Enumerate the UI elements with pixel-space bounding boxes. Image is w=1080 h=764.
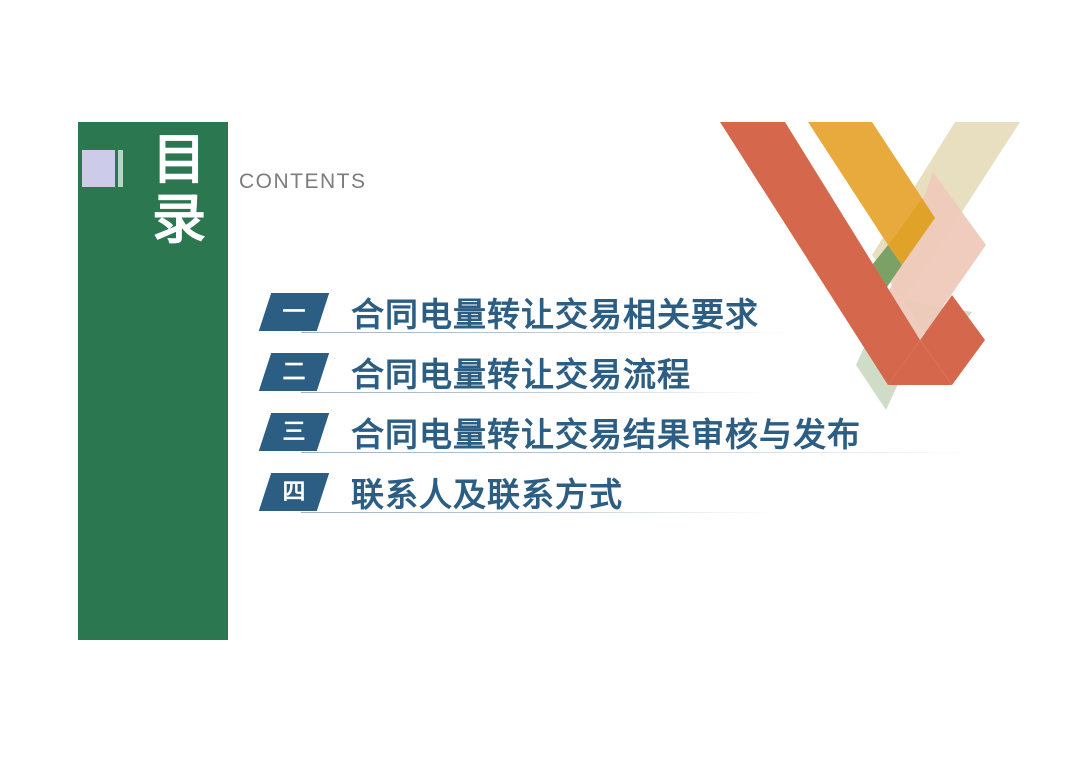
table-of-contents: 一 合同电量转让交易相关要求 二 合同电量转让交易流程 三 合同电量转让交易结果… (265, 288, 1025, 528)
toc-label-1: 合同电量转让交易相关要求 (351, 288, 759, 336)
toc-item-4[interactable]: 四 联系人及联系方式 (265, 468, 1025, 528)
toc-number-badge-1: 一 (259, 293, 329, 331)
toc-rule-4 (301, 512, 776, 513)
toc-item-1[interactable]: 一 合同电量转让交易相关要求 (265, 288, 1025, 348)
panel-accent-stripe (118, 150, 123, 187)
toc-rule-1 (301, 332, 801, 333)
toc-number-3: 三 (265, 413, 323, 451)
toc-rule-2 (301, 392, 771, 393)
page-title-char-1: 目 (140, 130, 220, 190)
contents-slide: 目 录 CONTENTS 一 合同电量转让交易相关要求 二 合同电量转让交易流程… (0, 0, 1080, 764)
gold-chevron-shape (808, 122, 935, 315)
toc-item-3[interactable]: 三 合同电量转让交易结果审核与发布 (265, 408, 1025, 468)
toc-label-3: 合同电量转让交易结果审核与发布 (351, 408, 861, 456)
toc-number-2: 二 (265, 353, 323, 391)
toc-label-2: 合同电量转让交易流程 (351, 348, 691, 396)
toc-label-4: 联系人及联系方式 (351, 468, 623, 516)
contents-label: CONTENTS (239, 170, 367, 194)
toc-number-4: 四 (265, 473, 323, 511)
toc-number-badge-3: 三 (259, 413, 329, 451)
toc-number-1: 一 (265, 293, 323, 331)
page-title-char-2: 录 (140, 190, 220, 250)
page-title: 目 录 (140, 130, 220, 250)
toc-number-badge-4: 四 (259, 473, 329, 511)
toc-rule-3 (301, 452, 981, 453)
lavender-accent-square (82, 150, 115, 187)
toc-item-2[interactable]: 二 合同电量转让交易流程 (265, 348, 1025, 408)
toc-number-badge-2: 二 (259, 353, 329, 391)
